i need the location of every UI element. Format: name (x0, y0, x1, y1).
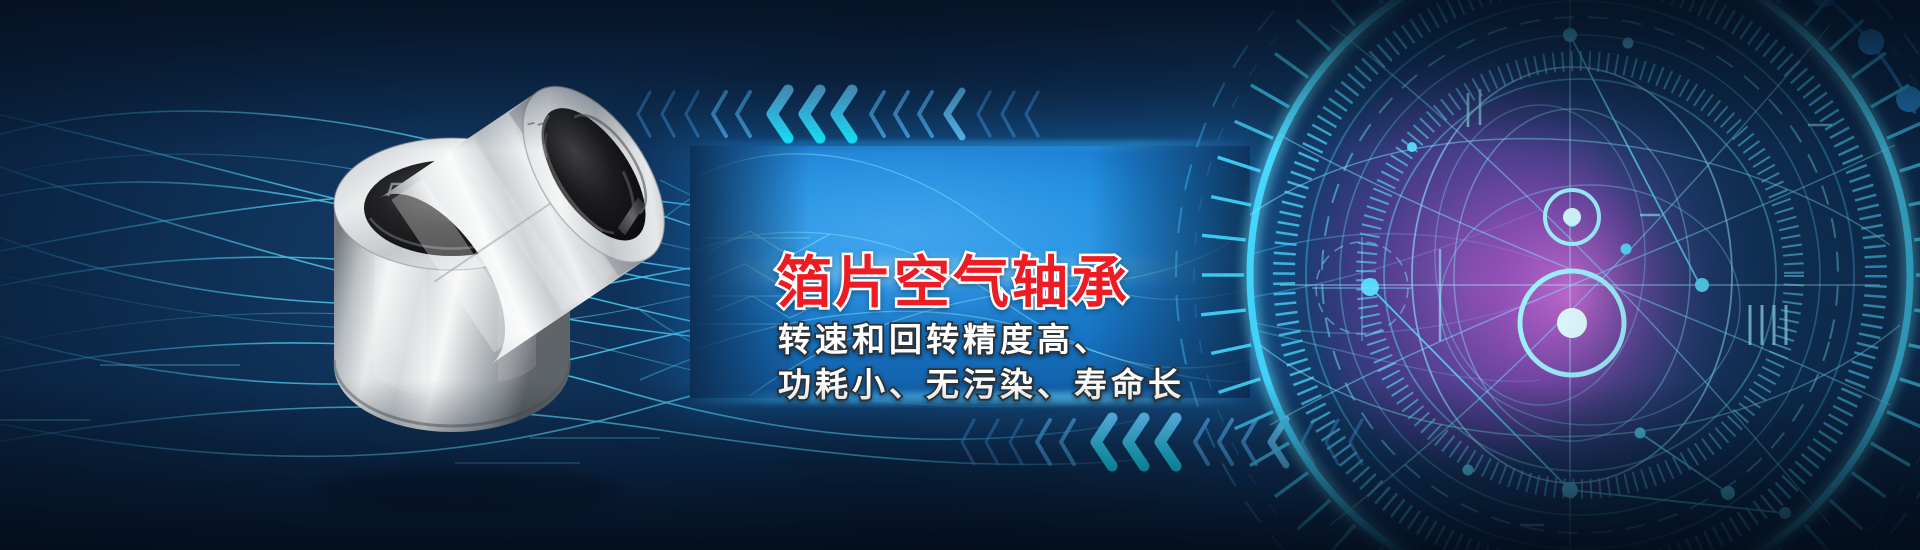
banner-subtitle-line-1: 转速和回转精度高、 (778, 313, 1111, 361)
bottom-shade (0, 380, 1920, 550)
top-shade (0, 0, 1920, 150)
banner-title: 箔片空气轴承 (776, 238, 1130, 319)
product-banner: 箔片空气轴承 转速和回转精度高、 功耗小、无污染、寿命长 (0, 0, 1920, 550)
